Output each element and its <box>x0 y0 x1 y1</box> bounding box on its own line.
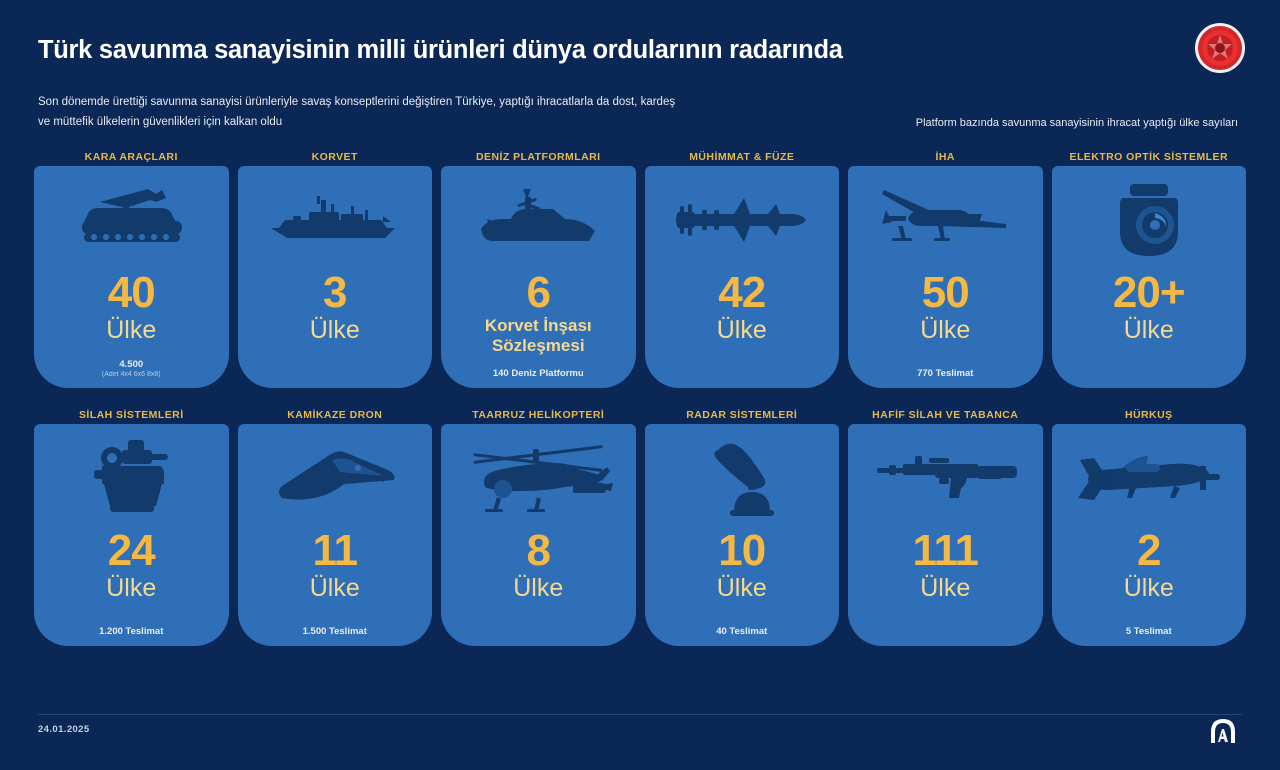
turkish-ministry-of-defence-emblem <box>1194 22 1246 74</box>
card-body[interactable]: 3 Ülke <box>238 166 433 388</box>
card-unit: Ülke <box>306 316 364 345</box>
missile-icon <box>645 166 840 270</box>
card-muhimmat-fuze[interactable]: MÜHİMMAT & FÜZE 42 Ülke <box>645 148 840 388</box>
card-note: 1.500 Teslimat <box>238 626 433 637</box>
card-note: 4.500 (Adet 4x4 6x6 8x8) <box>34 359 229 379</box>
card-unit: Ülke <box>102 316 160 345</box>
card-value: 50 <box>922 270 969 316</box>
card-title: KAMİKAZE DRON <box>287 406 382 424</box>
card-title: DENİZ PLATFORMLARI <box>476 148 601 166</box>
card-body[interactable]: 10 Ülke 40 Teslimat <box>645 424 840 646</box>
card-body[interactable]: 8 Ülke <box>441 424 636 646</box>
card-note: 140 Deniz Platformu <box>441 368 636 379</box>
aa-anadolu-agency-logo <box>1204 713 1242 751</box>
card-unit: Ülke <box>1120 574 1178 603</box>
radar-dish-icon <box>645 424 840 528</box>
page-subtitle: Son dönemde ürettiği savunma sanayisi ür… <box>38 92 678 132</box>
card-value: 2 <box>1137 528 1160 574</box>
card-body[interactable]: 2 Ülke 5 Teslimat <box>1052 424 1247 646</box>
card-value: 24 <box>108 528 155 574</box>
card-unit: Ülke <box>713 316 771 345</box>
card-body[interactable]: 40 Ülke 4.500 (Adet 4x4 6x6 8x8) <box>34 166 229 388</box>
card-unit: Ülke <box>916 574 974 603</box>
card-elektro-optik-sistemler[interactable]: ELEKTRO OPTİK SİSTEMLER 20+ Ülke <box>1052 148 1247 388</box>
card-unit: Ülke <box>102 574 160 603</box>
card-note-main: 140 Deniz Platformu <box>493 368 584 379</box>
card-note-sub: (Adet 4x4 6x6 8x8) <box>34 370 229 379</box>
card-note: 1.200 Teslimat <box>34 626 229 637</box>
publish-date: 24.01.2025 <box>38 724 90 735</box>
card-iha[interactable]: İHA 50 Ülke 770 Teslimat <box>848 148 1043 388</box>
card-unit: Ülke <box>509 574 567 603</box>
card-silah-sistemleri[interactable]: SİLAH SİSTEMLERİ 24 Ülke 1.200 Teslim <box>34 406 229 646</box>
card-radar-sistemleri[interactable]: RADAR SİSTEMLERİ 10 Ülke 40 Teslimat <box>645 406 840 646</box>
electro-optic-camera-icon <box>1052 166 1247 270</box>
assault-rifle-icon <box>848 424 1043 528</box>
card-unit: Ülke <box>1120 316 1178 345</box>
kamikaze-drone-icon <box>238 424 433 528</box>
card-unit: Korvet İnşası Sözleşmesi <box>441 316 636 356</box>
card-title: RADAR SİSTEMLERİ <box>686 406 797 424</box>
card-note-main: 770 Teslimat <box>917 368 973 379</box>
card-unit: Ülke <box>713 574 771 603</box>
card-hurkus[interactable]: HÜRKUŞ 2 Ülke 5 Teslimat <box>1052 406 1247 646</box>
card-hafif-silah-ve-tabanca[interactable]: HAFİF SİLAH VE TABANCA 111 Ülk <box>848 406 1043 646</box>
card-note-main: 5 Teslimat <box>1126 626 1172 637</box>
card-kara-araclari[interactable]: KARA ARAÇLARI 40 Ülke <box>34 148 229 388</box>
card-taarruz-helikopteri[interactable]: TAARRUZ HELİKOPTERİ <box>441 406 636 646</box>
card-title: TAARRUZ HELİKOPTERİ <box>472 406 604 424</box>
card-value: 42 <box>718 270 765 316</box>
card-value: 3 <box>323 270 346 316</box>
footer-divider <box>38 714 1242 715</box>
card-note: 40 Teslimat <box>645 626 840 637</box>
card-body[interactable]: 11 Ülke 1.500 Teslimat <box>238 424 433 646</box>
card-note: 770 Teslimat <box>848 368 1043 379</box>
card-kamikaze-dron[interactable]: KAMİKAZE DRON 11 Ülke 1.500 Teslimat <box>238 406 433 646</box>
card-value: 10 <box>718 528 765 574</box>
card-body[interactable]: 24 Ülke 1.200 Teslimat <box>34 424 229 646</box>
card-title: MÜHİMMAT & FÜZE <box>689 148 794 166</box>
card-deniz-platformlari[interactable]: DENİZ PLATFORMLARI 6 Korvet İnşası Sözle… <box>441 148 636 388</box>
tank-icon <box>34 166 229 270</box>
card-korvet[interactable]: KORVET 3 Ülke <box>238 148 433 388</box>
card-note-main: 1.200 Teslimat <box>99 626 163 637</box>
uav-drone-icon <box>848 166 1043 270</box>
card-value: 8 <box>527 528 550 574</box>
card-value: 40 <box>108 270 155 316</box>
platform-card-grid: KARA ARAÇLARI 40 Ülke <box>34 148 1246 646</box>
card-title: HAFİF SİLAH VE TABANCA <box>872 406 1018 424</box>
card-note: 5 Teslimat <box>1052 626 1247 637</box>
card-unit: Ülke <box>916 316 974 345</box>
card-note-main: 1.500 Teslimat <box>303 626 367 637</box>
card-body[interactable]: 20+ Ülke <box>1052 166 1247 388</box>
card-title: KORVET <box>312 148 358 166</box>
card-note-main: 40 Teslimat <box>716 626 767 637</box>
card-value: 11 <box>312 528 357 574</box>
card-body[interactable]: 42 Ülke <box>645 166 840 388</box>
weapon-station-icon <box>34 424 229 528</box>
card-value: 20+ <box>1113 270 1185 316</box>
card-body[interactable]: 50 Ülke 770 Teslimat <box>848 166 1043 388</box>
card-body[interactable]: 6 Korvet İnşası Sözleşmesi 140 Deniz Pla… <box>441 166 636 388</box>
card-title: KARA ARAÇLARI <box>85 148 178 166</box>
page-title: Türk savunma sanayisinin milli ürünleri … <box>38 36 843 65</box>
card-title: ELEKTRO OPTİK SİSTEMLER <box>1069 148 1228 166</box>
card-value: 6 <box>527 270 550 316</box>
platform-note: Platform bazında savunma sanayisinin ihr… <box>916 117 1238 129</box>
card-unit: Ülke <box>306 574 364 603</box>
card-value: 111 <box>912 528 978 574</box>
card-title: İHA <box>936 148 955 166</box>
turboprop-aircraft-icon <box>1052 424 1247 528</box>
card-title: SİLAH SİSTEMLERİ <box>79 406 184 424</box>
page-header: Türk savunma sanayisinin milli ürünleri … <box>0 0 1280 140</box>
attack-helicopter-icon <box>441 424 636 528</box>
corvette-ship-icon <box>238 166 433 270</box>
naval-vessel-icon <box>441 166 636 270</box>
card-note-main: 4.500 <box>119 359 143 370</box>
card-body[interactable]: 111 Ülke <box>848 424 1043 646</box>
card-title: HÜRKUŞ <box>1125 406 1173 424</box>
